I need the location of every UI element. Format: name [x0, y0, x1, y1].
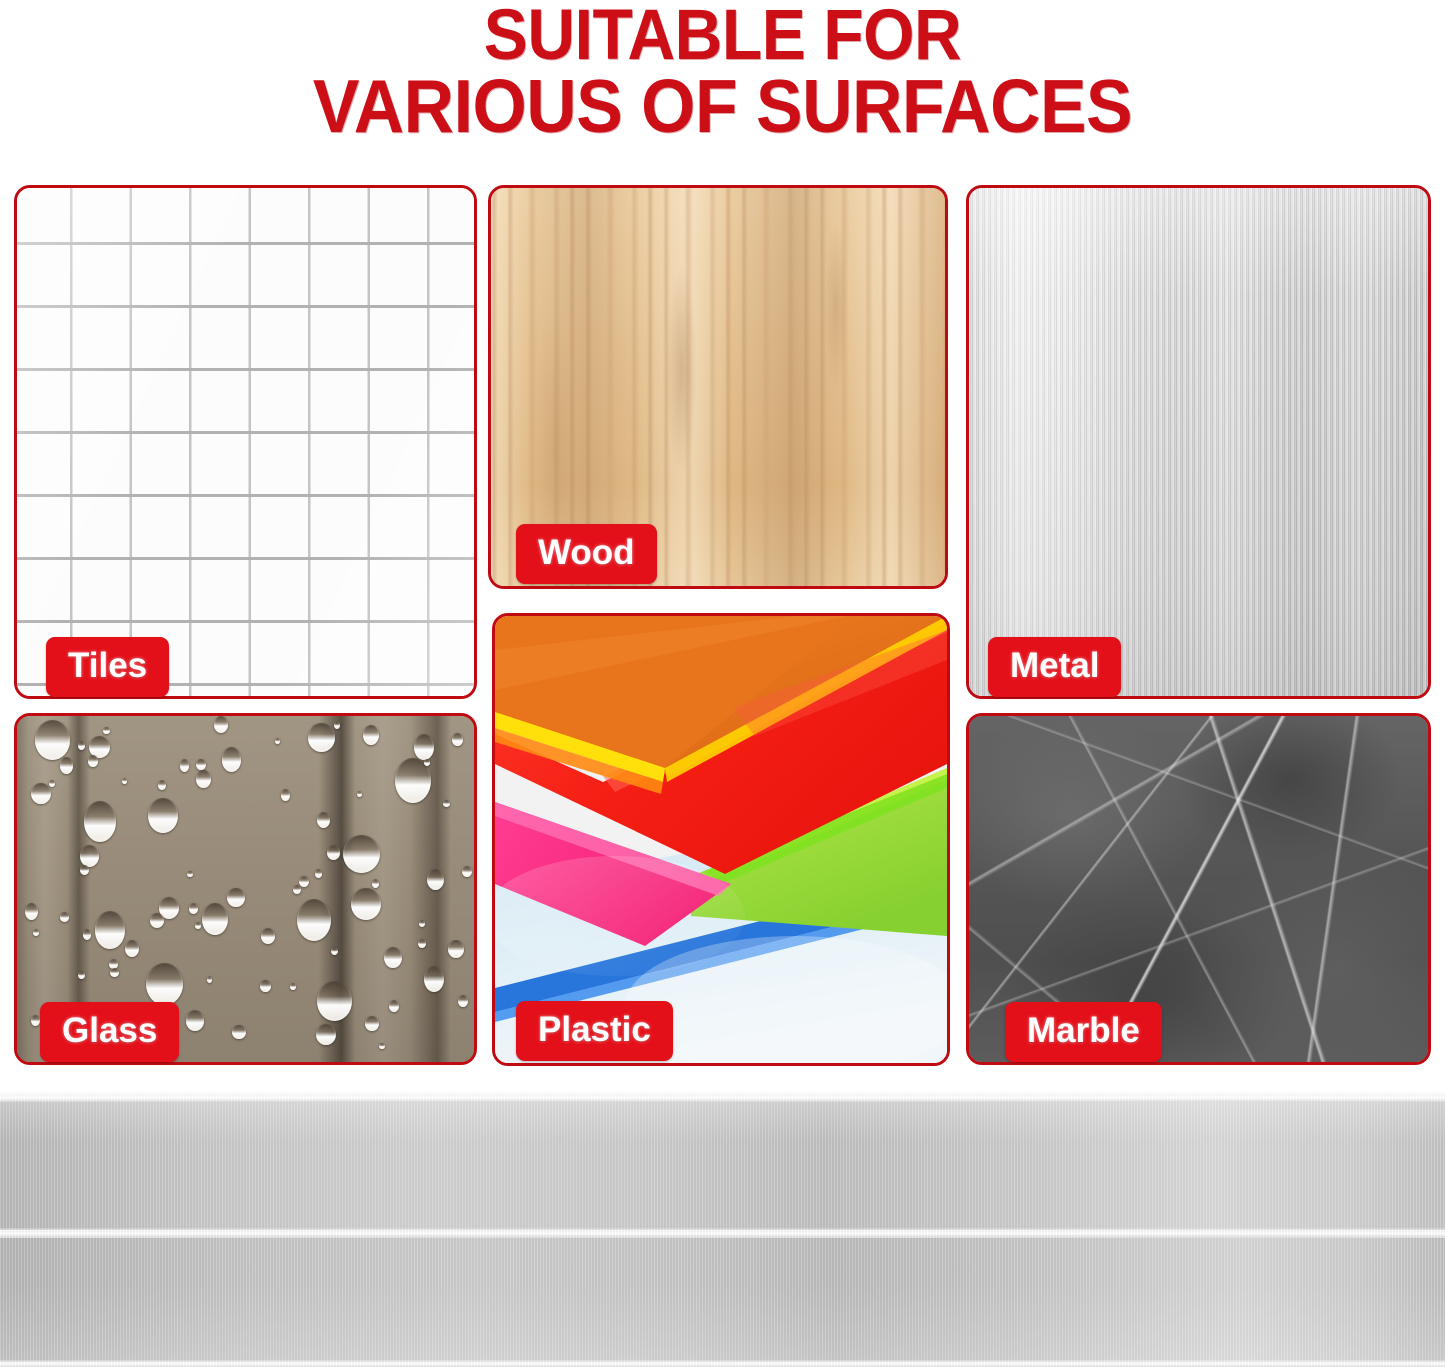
water-droplet	[343, 835, 380, 873]
water-droplet	[158, 780, 167, 790]
water-droplet	[95, 911, 125, 948]
water-droplet	[372, 879, 379, 888]
water-droplet	[316, 1024, 336, 1046]
surface-card-metal	[966, 185, 1431, 699]
water-droplet	[196, 770, 211, 788]
water-droplet	[357, 791, 362, 797]
water-droplet	[80, 845, 99, 867]
water-droplet	[351, 888, 381, 921]
water-droplet	[148, 798, 178, 833]
water-droplet	[207, 976, 212, 983]
page-title-line-1: SUITABLE FOR	[51, 2, 1395, 70]
water-droplet	[150, 913, 164, 928]
page-title-line-2: VARIOUS OF SURFACES	[51, 70, 1395, 142]
water-droplet	[195, 922, 202, 929]
water-droplet	[327, 845, 340, 860]
water-droplet	[331, 947, 338, 955]
water-droplet	[196, 759, 206, 771]
surface-label-glass: Glass	[40, 1002, 179, 1062]
water-droplet	[146, 963, 183, 1005]
water-droplet	[180, 759, 189, 771]
water-droplet	[308, 723, 336, 752]
water-droplet	[365, 1016, 379, 1031]
water-droplet	[78, 971, 85, 979]
water-droplet	[110, 968, 119, 977]
water-droplet	[31, 1015, 40, 1026]
water-droplet	[414, 734, 434, 760]
water-droplet	[379, 1043, 384, 1049]
metal-sheen-overlay	[969, 188, 1428, 696]
water-droplet	[214, 716, 229, 733]
surface-label-wood: Wood	[516, 524, 657, 584]
water-droplet	[125, 940, 140, 958]
water-droplet	[448, 940, 464, 958]
water-droplet	[290, 983, 296, 990]
water-droplet	[389, 1000, 399, 1012]
water-droplet	[315, 869, 323, 878]
water-droplet	[275, 738, 280, 744]
water-droplet	[458, 995, 468, 1007]
strip-band-top	[0, 1100, 1445, 1230]
water-droplet	[317, 981, 352, 1021]
water-droplet	[281, 789, 291, 801]
acrylic-sheets-illustration	[495, 616, 947, 1063]
strip-seam-middle	[0, 1228, 1445, 1238]
surface-label-marble: Marble	[1005, 1002, 1162, 1062]
water-droplet	[88, 755, 99, 767]
water-droplet	[60, 757, 74, 774]
water-droplet	[202, 903, 227, 935]
surface-label-plastic: Plastic	[516, 1001, 673, 1061]
water-droplet	[31, 783, 51, 805]
surface-label-tiles: Tiles	[46, 637, 169, 697]
water-droplet	[452, 733, 463, 746]
water-droplet	[260, 980, 271, 992]
water-droplet	[78, 741, 85, 750]
water-droplet	[424, 966, 444, 992]
water-droplet	[60, 912, 69, 922]
water-droplet	[232, 1025, 246, 1040]
water-droplet	[443, 800, 450, 807]
surface-card-tiles	[14, 185, 477, 699]
plastic-texture	[495, 616, 947, 1063]
strip-seam-bottom	[0, 1360, 1445, 1367]
strip-band-bottom	[0, 1238, 1445, 1362]
water-droplet	[83, 929, 92, 940]
water-droplet	[227, 888, 245, 908]
water-droplet	[103, 727, 109, 734]
product-surface-strip	[0, 1092, 1445, 1367]
water-droplet	[84, 801, 116, 842]
water-droplet	[334, 721, 341, 730]
water-droplet	[261, 928, 276, 944]
water-droplet	[122, 778, 128, 784]
water-droplet	[189, 903, 198, 914]
water-droplet	[363, 725, 379, 745]
water-droplet	[25, 903, 38, 920]
water-droplet	[222, 747, 242, 771]
water-droplet	[80, 865, 89, 876]
page-title: SUITABLE FOR VARIOUS OF SURFACES	[51, 2, 1395, 142]
water-droplet	[418, 939, 426, 948]
water-droplet	[297, 899, 332, 942]
strip-seam-top	[0, 1092, 1445, 1102]
water-droplet	[293, 885, 300, 894]
water-droplet	[35, 720, 71, 760]
water-droplet	[317, 812, 330, 828]
water-droplet	[419, 920, 426, 927]
water-droplet	[462, 866, 472, 877]
water-droplet	[49, 780, 55, 787]
water-droplet	[187, 871, 193, 878]
water-droplet	[33, 929, 39, 936]
surface-card-plastic	[492, 613, 950, 1066]
surface-label-metal: Metal	[988, 637, 1121, 697]
water-droplet	[424, 759, 430, 766]
water-droplet	[299, 876, 309, 887]
water-droplet	[186, 1010, 205, 1031]
water-droplet	[427, 869, 444, 891]
water-droplet	[384, 947, 402, 968]
tiles-sheen-overlay	[17, 188, 474, 696]
